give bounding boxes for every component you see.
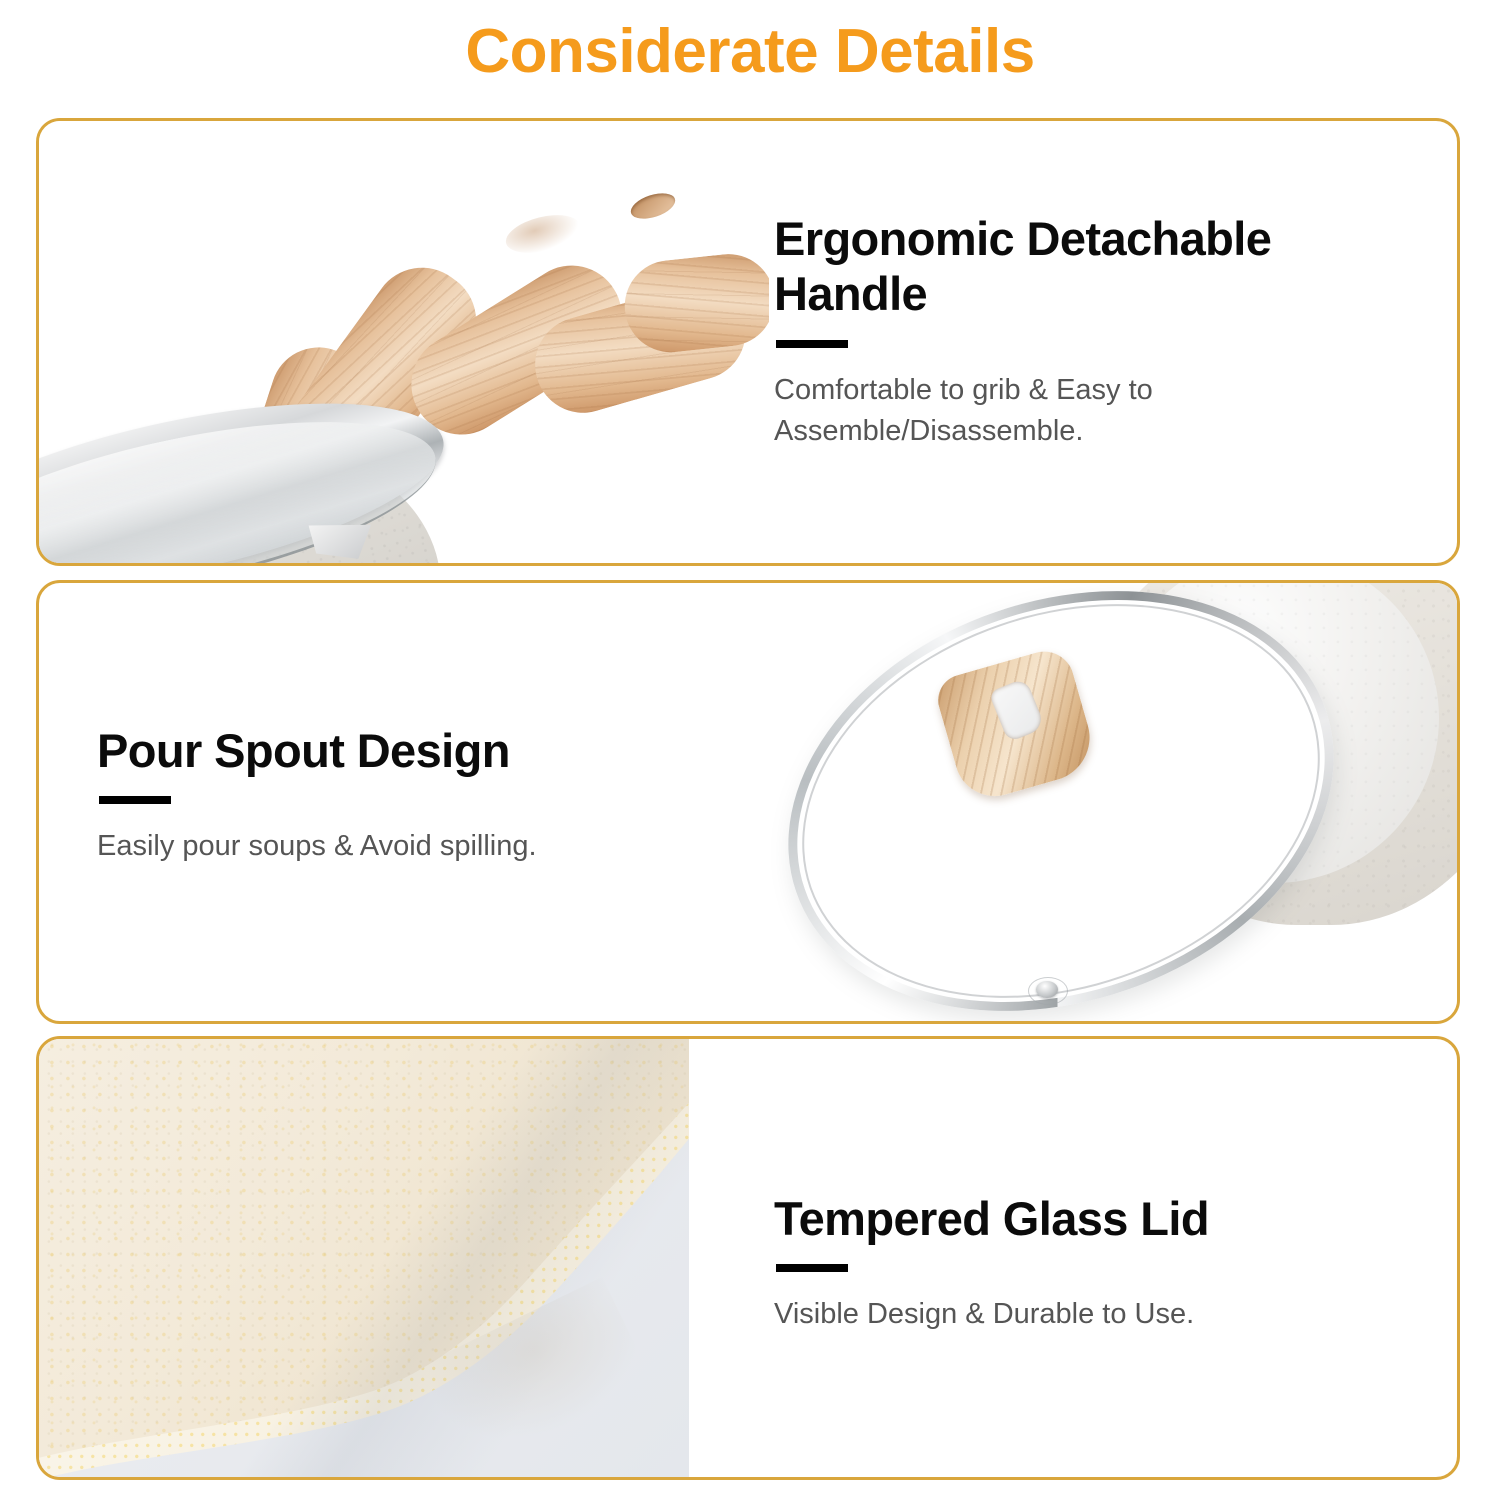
feature-title: Pour Spout Design bbox=[97, 723, 737, 778]
glass-lid-photo bbox=[739, 583, 1460, 1023]
feature-title: Tempered Glass Lid bbox=[774, 1191, 1414, 1246]
feature-subtitle: Easily pour soups & Avoid spilling. bbox=[97, 826, 737, 867]
feature-subtitle: Comfortable to grib & Easy to Assemble/D… bbox=[774, 370, 1414, 452]
feature-text-pour-spout-design: Pour Spout Design Easily pour soups & Av… bbox=[97, 723, 737, 868]
accent-bar bbox=[776, 1264, 848, 1272]
handle-shaft-end-icon bbox=[620, 250, 769, 357]
lid-steam-vent-icon bbox=[1036, 981, 1058, 998]
feature-text-ergonomic-detachable-handle: Ergonomic Detachable Handle Comfortable … bbox=[774, 211, 1414, 452]
feature-text-tempered-glass-lid: Tempered Glass Lid Visible Design & Dura… bbox=[774, 1191, 1414, 1336]
feature-card-ergonomic-detachable-handle: Ergonomic Detachable Handle Comfortable … bbox=[36, 118, 1460, 566]
handle-thumb-rest-icon bbox=[502, 208, 584, 259]
feature-card-tempered-glass-lid: Tempered Glass Lid Visible Design & Dura… bbox=[36, 1036, 1460, 1480]
pour-spout-photo bbox=[39, 1039, 689, 1479]
handle-hang-hole-icon bbox=[628, 188, 679, 223]
accent-bar bbox=[776, 340, 848, 348]
handle-photo bbox=[39, 121, 769, 563]
feature-card-pour-spout-design: Pour Spout Design Easily pour soups & Av… bbox=[36, 580, 1460, 1024]
page-title: Considerate Details bbox=[0, 18, 1500, 86]
feature-title: Ergonomic Detachable Handle bbox=[774, 211, 1414, 322]
feature-subtitle: Visible Design & Durable to Use. bbox=[774, 1294, 1414, 1335]
accent-bar bbox=[99, 796, 171, 804]
